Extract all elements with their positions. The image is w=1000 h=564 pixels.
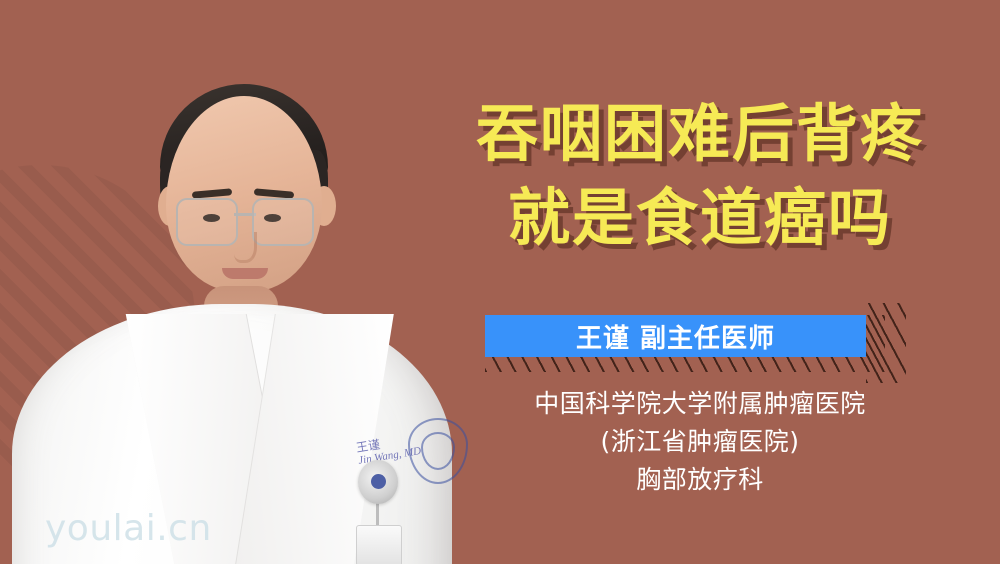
id-badge-card — [356, 525, 402, 564]
doctor-name-badge: 王谨 副主任医师 — [485, 315, 866, 357]
doctor-name-badge-label: 王谨 副主任医师 — [576, 318, 775, 355]
lens-right — [252, 198, 314, 246]
site-watermark: youlai.cn — [45, 508, 212, 549]
nose — [234, 232, 257, 263]
affiliation-hospital: 中国科学院大学附属肿瘤医院 — [400, 385, 1000, 423]
affiliation-department: 胸部放疗科 — [400, 461, 1000, 499]
headline-line-2: 就是食道癌吗 — [400, 176, 1000, 260]
id-badge-reel-icon — [358, 460, 398, 504]
promo-card: 王谨 Jin Wang, MD youlai.cn 吞咽困难后背疼 就是食道癌吗… — [0, 0, 1000, 564]
affiliation-block: 中国科学院大学附属肿瘤医院 (浙江省肿瘤医院) 胸部放疗科 — [400, 385, 1000, 499]
headline: 吞咽困难后背疼 就是食道癌吗 — [400, 92, 1000, 260]
hatch-decoration-right-of-badge — [866, 303, 906, 383]
affiliation-hospital-alias: (浙江省肿瘤医院) — [400, 423, 1000, 461]
headline-line-1: 吞咽困难后背疼 — [400, 92, 1000, 176]
lens-left — [176, 198, 238, 246]
mouth — [222, 268, 268, 279]
